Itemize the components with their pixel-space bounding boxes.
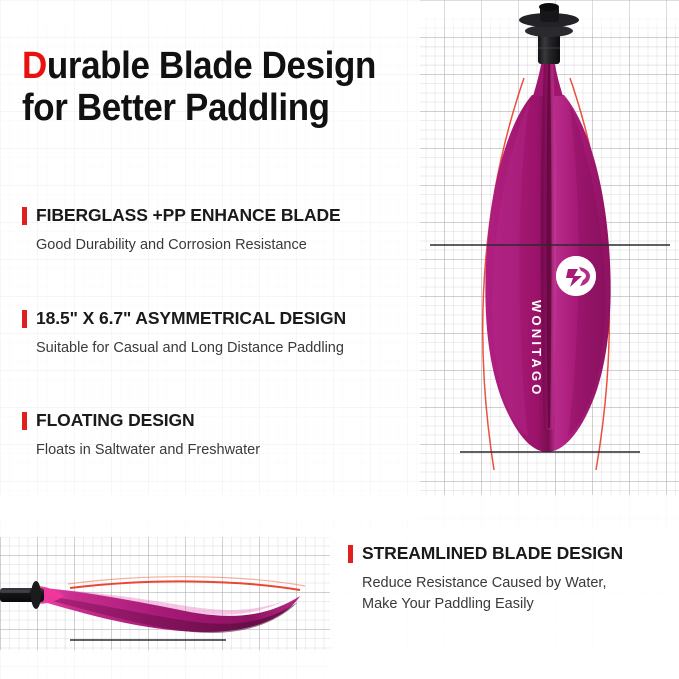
feature-heading: FIBERGLASS +PP ENHANCE BLADE <box>22 205 422 226</box>
infographic-page: WONITAGO Durable Blade Design for Better… <box>0 0 679 679</box>
paddle-blade-side-profile <box>0 540 345 660</box>
feature-item-asymmetrical: 18.5" X 6.7" ASYMMETRICAL DESIGN Suitabl… <box>22 308 422 359</box>
feature-item-streamlined: STREAMLINED BLADE DESIGN Reduce Resistan… <box>348 543 678 614</box>
profile-ferrule-collar <box>31 581 41 609</box>
title-drop-cap: D <box>22 45 47 87</box>
feature-description: Good Durability and Corrosion Resistance <box>36 235 422 256</box>
feature-title: 18.5" X 6.7" ASYMMETRICAL DESIGN <box>36 308 346 329</box>
brand-name: WONITAGO <box>529 300 544 404</box>
bullet-marker-icon <box>348 545 353 563</box>
feature-title: FIBERGLASS +PP ENHANCE BLADE <box>36 205 341 226</box>
feature-description: Suitable for Casual and Long Distance Pa… <box>36 338 422 359</box>
profile-shaft-highlight <box>0 590 30 593</box>
feature-description: Floats in Saltwater and Freshwater <box>36 440 422 461</box>
bullet-marker-icon <box>22 412 27 430</box>
profile-illustration <box>0 540 345 660</box>
wonitago-arrow-icon <box>556 256 596 296</box>
bullet-marker-icon <box>22 207 27 225</box>
feature-heading: STREAMLINED BLADE DESIGN <box>348 543 678 564</box>
feature-heading: 18.5" X 6.7" ASYMMETRICAL DESIGN <box>22 308 422 329</box>
title-rest: urable Blade Design for Better Paddling <box>22 45 376 129</box>
brand-logo-badge <box>556 256 596 296</box>
blade-illustration <box>420 0 679 470</box>
paddle-blade-front-view <box>420 0 679 470</box>
profile-guide-curve <box>70 581 300 590</box>
bullet-marker-icon <box>22 310 27 328</box>
feature-heading: FLOATING DESIGN <box>22 410 422 431</box>
feature-description: Reduce Resistance Caused by Water, Make … <box>362 573 678 614</box>
feature-title: FLOATING DESIGN <box>36 410 195 431</box>
feature-item-fiberglass: FIBERGLASS +PP ENHANCE BLADE Good Durabi… <box>22 205 422 256</box>
page-title: Durable Blade Design for Better Paddling <box>22 46 390 130</box>
feature-item-floating: FLOATING DESIGN Floats in Saltwater and … <box>22 410 422 461</box>
feature-title: STREAMLINED BLADE DESIGN <box>362 543 623 564</box>
blade-spine-line <box>547 64 552 428</box>
shaft-end-cap <box>539 3 559 11</box>
